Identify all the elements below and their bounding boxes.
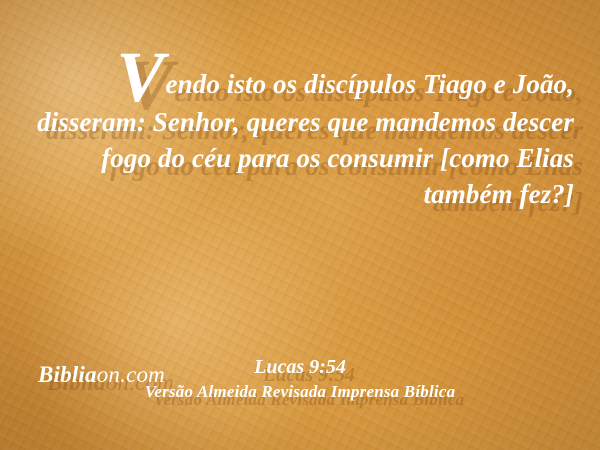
verse-card: Vendo isto os discípulos Tiago e João, d… [0, 0, 600, 450]
card-content: Vendo isto os discípulos Tiago e João, d… [0, 0, 600, 450]
footer: Bibliaon.com Lucas 9:54 Versão Almeida R… [0, 354, 600, 428]
verse-reference: Lucas 9:54 [0, 354, 600, 380]
verse-text: Vendo isto os discípulos Tiago e João, d… [26, 52, 574, 212]
verse-dropcap: V [116, 37, 165, 117]
verse-block: Vendo isto os discípulos Tiago e João, d… [26, 52, 574, 212]
reference-wrap: Lucas 9:54 Versão Almeida Revisada Impre… [0, 354, 600, 404]
bible-version: Versão Almeida Revisada Imprensa Bíblica [0, 380, 600, 404]
